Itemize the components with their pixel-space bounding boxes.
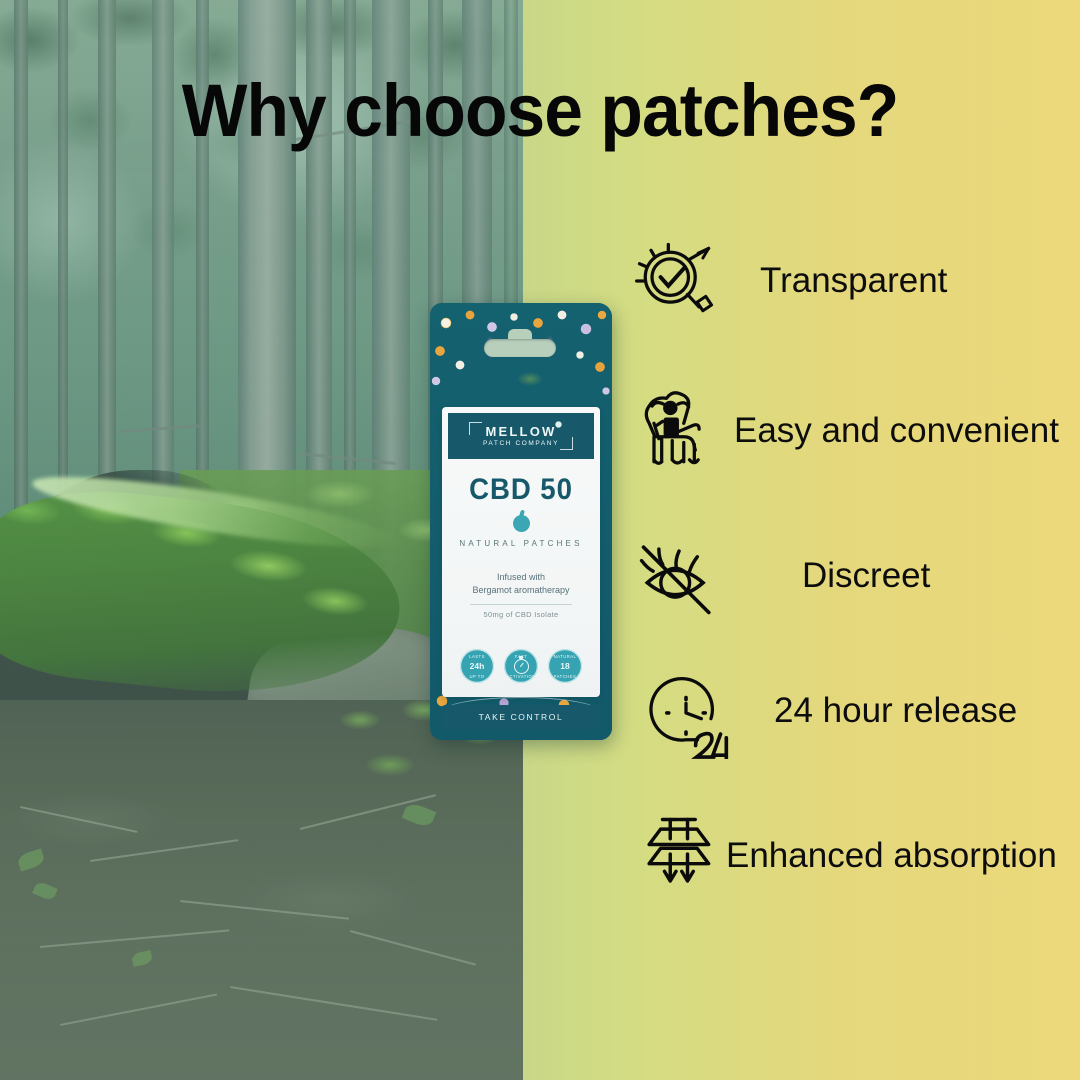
- package-card: MELLOW PATCH COMPANY CBD 50 NATURAL PATC…: [430, 303, 612, 740]
- badge-bottom-text: UP TO: [460, 674, 494, 679]
- badge-fast-activation: FAST ACTIVATION: [504, 649, 538, 683]
- benefit-row-discreet[interactable]: Discreet: [632, 528, 930, 624]
- benefit-row-transparent[interactable]: Transparent: [628, 233, 947, 329]
- brand-subtitle: PATCH COMPANY: [483, 441, 559, 448]
- poster-canvas: Why choose patches? MELLOW PATCH COMPANY…: [0, 0, 1080, 1080]
- product-subtitle: NATURAL PATCHES: [442, 539, 600, 548]
- badge-top-text: NATURAL: [548, 654, 582, 659]
- hang-hole: [484, 339, 556, 357]
- benefit-label: Enhanced absorption: [726, 836, 1057, 876]
- layers-down-arrows-icon: [628, 808, 724, 904]
- benefits-list: Transparent Easy an: [620, 0, 1080, 1080]
- stopwatch-icon: [514, 659, 529, 674]
- benefit-label: Discreet: [802, 556, 930, 596]
- benefit-label: Easy and convenient: [734, 411, 1059, 451]
- product-package[interactable]: MELLOW PATCH COMPANY CBD 50 NATURAL PATC…: [430, 303, 612, 740]
- infused-line-1: Infused with: [497, 572, 545, 582]
- clock-24-icon: [638, 663, 734, 759]
- package-label: MELLOW PATCH COMPANY CBD 50 NATURAL PATC…: [442, 407, 600, 697]
- badge-value: 24h: [470, 662, 485, 671]
- badge-bottom-text: ACTIVATION: [504, 674, 538, 679]
- eye-slash-icon: [632, 528, 728, 624]
- badge-natural-patches: NATURAL 18 PATCHES: [548, 649, 582, 683]
- benefit-row-24-hour-release[interactable]: 24 hour release: [638, 663, 1017, 759]
- product-name: CBD 50: [448, 473, 593, 507]
- badge-bottom-text: PATCHES: [548, 674, 582, 679]
- infused-line-2: Bergamot aromatherapy: [472, 585, 569, 595]
- brand-bar: MELLOW PATCH COMPANY: [448, 413, 594, 459]
- package-footer: TAKE CONTROL: [442, 705, 600, 729]
- benefit-label: 24 hour release: [774, 691, 1017, 731]
- bracket-icon: [560, 437, 573, 450]
- bracket-icon: [469, 422, 482, 435]
- droplet-icon: [513, 515, 530, 532]
- person-relaxing-chair-icon: [630, 383, 726, 479]
- badge-value: 18: [560, 662, 569, 671]
- dose-text: 50mg of CBD Isolate: [442, 610, 600, 619]
- benefit-row-easy-convenient[interactable]: Easy and convenient: [630, 383, 1059, 479]
- infused-text: Infused with Bergamot aromatherapy: [442, 571, 600, 597]
- badge-lasts-24h: LASTS 24h UP TO: [460, 649, 494, 683]
- brand-lockup: MELLOW PATCH COMPANY: [483, 425, 559, 448]
- badge-group: LASTS 24h UP TO FAST ACTIVATION NATURAL …: [460, 645, 582, 687]
- benefit-label: Transparent: [760, 261, 947, 301]
- magnifier-check-icon: [628, 233, 724, 329]
- badge-top-text: LASTS: [460, 654, 494, 659]
- leaf-icon: [554, 420, 563, 429]
- benefit-row-enhanced-absorption[interactable]: Enhanced absorption: [628, 808, 1057, 904]
- divider: [470, 604, 572, 605]
- brand-name: MELLOW: [483, 425, 559, 438]
